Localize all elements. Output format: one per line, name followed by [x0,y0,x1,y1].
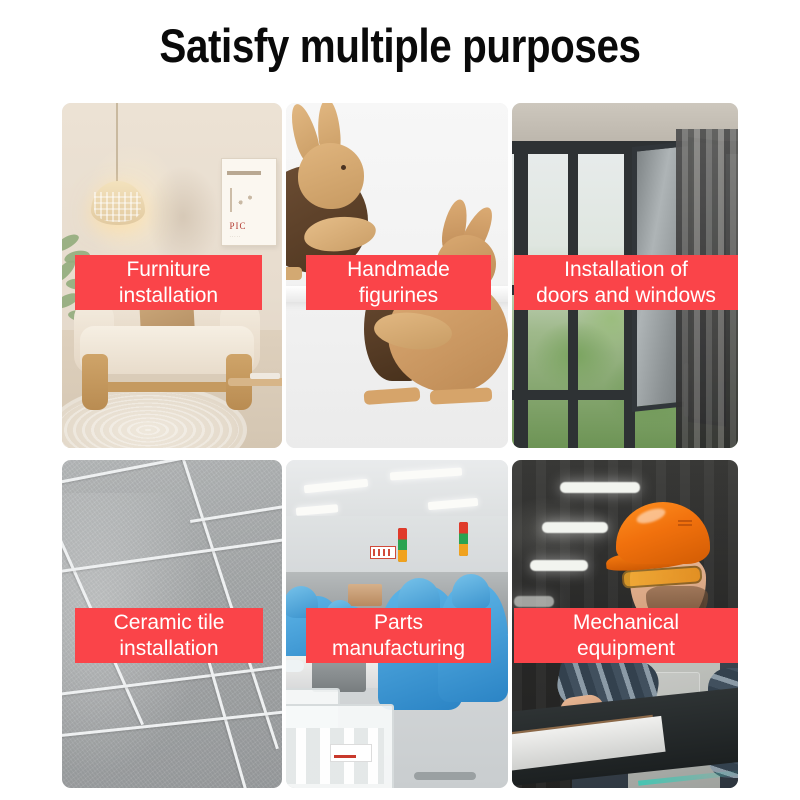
ceiling-light-icon [530,560,588,571]
page-title: Satisfy multiple purposes [56,18,744,74]
hard-hat-vent [678,518,692,526]
pendant-lamp-icon [91,181,145,225]
use-case-card-mechanical-equipment[interactable]: Mechanical equipment [512,460,738,788]
caption-line-2: installation [119,636,218,662]
caption-line-1: Furniture [126,257,210,283]
caption-line-2: doors and windows [536,283,716,309]
poster: Satisfy multiple purposes PIC ····· [0,0,800,800]
use-case-card-furniture-installation[interactable]: PIC ····· Furniture [62,103,282,448]
crate-label [330,744,372,762]
caption-parts-manufacturing: Parts manufacturing [306,608,491,663]
stool [414,772,476,780]
side-table [228,378,282,386]
caption-mechanical-equipment: Mechanical equipment [514,608,738,663]
ceiling-light-icon [560,482,640,493]
wall-art-frame: PIC ····· [221,158,277,246]
caption-line-1: Ceramic tile [114,610,225,636]
caption-doors-and-windows-installation: Installation of doors and windows [514,255,738,310]
caption-line-1: Installation of [564,257,688,283]
caption-line-2: equipment [577,636,675,662]
wall-art-subtitle: ····· [230,234,242,239]
caption-line-1: Mechanical [573,610,679,636]
caption-line-1: Handmade [347,257,450,283]
wooden-rabbit-front-icon [358,221,508,421]
ceiling-light-icon [542,522,608,533]
ceiling-light-icon [514,596,554,607]
caption-handmade-figurines: Handmade figurines [306,255,491,310]
worker-hood [452,574,490,610]
use-case-grid: PIC ····· Furniture [62,103,738,788]
wall-sign [370,546,396,559]
caption-line-2: figurines [359,283,438,309]
caption-furniture-installation: Furniture installation [75,255,262,310]
wall-art-title: PIC [230,221,247,231]
caption-line-2: manufacturing [332,636,465,662]
window-transom-2 [512,390,640,400]
use-case-card-doors-and-windows-installation[interactable]: Installation of doors and windows [512,103,738,448]
use-case-card-parts-manufacturing[interactable]: Parts manufacturing [286,460,508,788]
wall-shadow [146,165,221,269]
signal-tower-icon [398,528,407,562]
use-case-card-ceramic-tile-installation[interactable]: Ceramic tile installation [62,460,282,788]
glove-icon [286,660,304,672]
caption-line-1: Parts [374,610,423,636]
lamp-cord [116,103,118,183]
signal-tower-icon [459,522,468,556]
caption-ceramic-tile-installation: Ceramic tile installation [75,608,263,663]
use-case-card-handmade-figurines[interactable]: Handmade figurines [286,103,508,448]
caption-line-2: installation [119,283,218,309]
